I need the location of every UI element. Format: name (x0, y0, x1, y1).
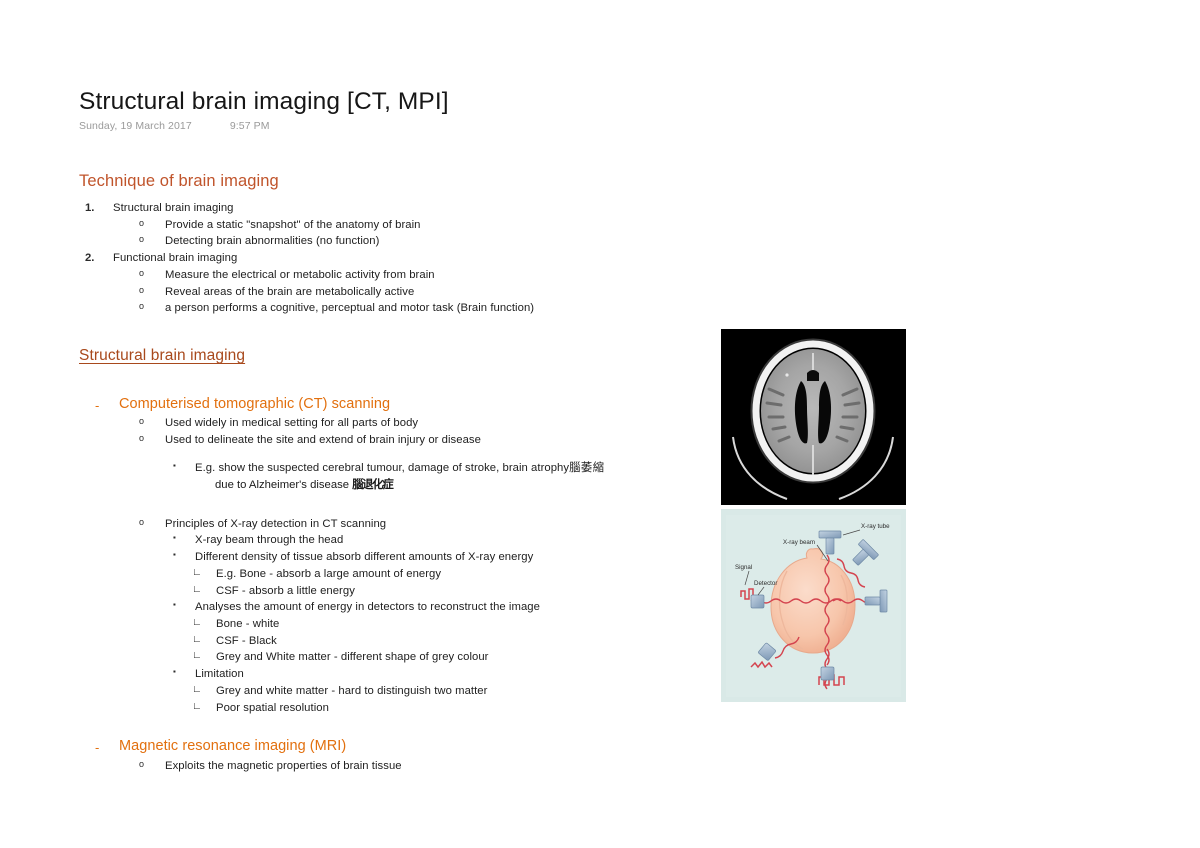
list-marker-corner: ∟ (192, 633, 216, 648)
list-item: o Exploits the magnetic properties of br… (79, 758, 699, 775)
list-marker-corner: ∟ (192, 616, 216, 631)
list-item: o Detecting brain abnormalities (no func… (79, 233, 699, 250)
list-item-label: Provide a static "snapshot" of the anato… (165, 217, 699, 234)
label-signal: Signal (735, 564, 752, 571)
list-marker-corner: ∟ (192, 683, 216, 698)
list-marker-corner: ∟ (192, 649, 216, 664)
ct-diagram-graphic: X-ray tube X-ray beam Signal Detector (721, 509, 906, 702)
list-item: o Principles of X-ray detection in CT sc… (79, 516, 699, 533)
list-marker-square: ▪ (173, 599, 195, 611)
list-item: 2. Functional brain imaging (79, 250, 699, 267)
list-item: o Used widely in medical setting for all… (79, 415, 699, 432)
example-cjk-line1: 腦萎縮 (569, 462, 604, 474)
list-marker-square: ▪ (173, 460, 195, 472)
document-page: Structural brain imaging [CT, MPI] Sunda… (0, 0, 1200, 848)
list-item-label: Measure the electrical or metabolic acti… (165, 267, 699, 284)
list-item-label: Poor spatial resolution (216, 700, 699, 717)
list-item: ∟ E.g. Bone - absorb a large amount of e… (79, 566, 699, 583)
list-marker-square: ▪ (173, 549, 195, 561)
list-item-label: Functional brain imaging (113, 250, 699, 267)
list-item: ▪ X-ray beam through the head (79, 532, 699, 549)
list-item-label: Analyses the amount of energy in detecto… (195, 599, 699, 616)
list-marker-circle: o (139, 217, 165, 230)
list-marker-number: 1. (85, 200, 113, 217)
heading-technique: Technique of brain imaging (79, 172, 699, 192)
ct-diagram-image: X-ray tube X-ray beam Signal Detector (721, 509, 906, 702)
heading-principles: Principles of X-ray detection in CT scan… (165, 516, 699, 533)
list-marker-corner: ∟ (192, 700, 216, 715)
label-detector: Detector (754, 580, 777, 587)
list-item-label: Used to delineate the site and extend of… (165, 432, 699, 449)
list-marker-circle: o (139, 516, 165, 529)
list-item: ∟ CSF - Black (79, 633, 699, 650)
list-item: o a person performs a cognitive, percept… (79, 300, 699, 317)
list-item-label: Grey and White matter - different shape … (216, 649, 699, 666)
list-marker-square: ▪ (173, 666, 195, 678)
list-item-label: Reveal areas of the brain are metabolica… (165, 284, 699, 301)
list-item: 1. Structural brain imaging (79, 200, 699, 217)
heading-structural-wrap: Structural brain imaging (79, 347, 699, 366)
list-item: ▪ Limitation (79, 666, 699, 683)
list-item-label: a person performs a cognitive, perceptua… (165, 300, 699, 317)
ct-scan-graphic (721, 329, 906, 505)
document-content: Structural brain imaging [CT, MPI] Sunda… (79, 88, 699, 774)
list-item: ∟ Bone - white (79, 616, 699, 633)
list-item: ▪ Analyses the amount of energy in detec… (79, 599, 699, 616)
detector-left (751, 595, 764, 608)
list-item: o Reveal areas of the brain are metaboli… (79, 284, 699, 301)
list-marker-circle: o (139, 284, 165, 297)
list-marker-circle: o (139, 300, 165, 313)
list-item-label: Limitation (195, 666, 699, 683)
document-meta: Sunday, 19 March 20179:57 PM (79, 120, 699, 132)
label-xray-beam: X-ray beam (783, 539, 815, 546)
list-marker-circle: o (139, 233, 165, 246)
page-title: Structural brain imaging [CT, MPI] (79, 88, 699, 116)
list-item-label: CSF - absorb a little energy (216, 583, 699, 600)
document-time: 9:57 PM (230, 120, 270, 132)
list-marker-circle: o (139, 432, 165, 445)
example-text-line1: E.g. show the suspected cerebral tumour,… (195, 462, 569, 474)
list-marker-circle: o (139, 267, 165, 280)
list-item: ▪ Different density of tissue absorb dif… (79, 549, 699, 566)
list-item-label: E.g. Bone - absorb a large amount of ene… (216, 566, 699, 583)
list-item: ∟ Grey and white matter - hard to distin… (79, 683, 699, 700)
list-item: o Used to delineate the site and extend … (79, 432, 699, 449)
example-text-line2: due to Alzheimer's disease (215, 479, 349, 491)
list-item: ▪ E.g. show the suspected cerebral tumou… (79, 460, 699, 477)
ct-scan-image (721, 329, 906, 505)
list-marker-square: ▪ (173, 532, 195, 544)
list-marker-corner: ∟ (192, 566, 216, 581)
list-item-label: Exploits the magnetic properties of brai… (165, 758, 699, 775)
list-item-label: X-ray beam through the head (195, 532, 699, 549)
list-item: ∟ Grey and White matter - different shap… (79, 649, 699, 666)
heading-structural: Structural brain imaging (79, 347, 245, 366)
list-item-label: Detecting brain abnormalities (no functi… (165, 233, 699, 250)
heading-ct-scanning: Computerised tomographic (CT) scanning (119, 396, 390, 413)
list-marker-dash: - (95, 396, 119, 415)
heading-mri: Magnetic resonance imaging (MRI) (119, 738, 346, 755)
list-marker-dash: - (95, 738, 119, 757)
example-cjk-line2: 腦退化症 (352, 479, 392, 491)
detector-bottom (821, 667, 834, 680)
list-marker-circle: o (139, 758, 165, 771)
heading-mri-row: - Magnetic resonance imaging (MRI) (79, 738, 699, 757)
label-xray-tube: X-ray tube (861, 523, 890, 530)
list-item-label: Different density of tissue absorb diffe… (195, 549, 699, 566)
list-item-label: CSF - Black (216, 633, 699, 650)
list-marker-circle: o (139, 415, 165, 428)
heading-ct-scanning-row: - Computerised tomographic (CT) scanning (79, 396, 699, 415)
list-item: o Measure the electrical or metabolic ac… (79, 267, 699, 284)
list-item-label: Bone - white (216, 616, 699, 633)
list-item-label: Used widely in medical setting for all p… (165, 415, 699, 432)
list-item: o Provide a static "snapshot" of the ana… (79, 217, 699, 234)
list-item: ∟ CSF - absorb a little energy (79, 583, 699, 600)
list-item-label: Grey and white matter - hard to distingu… (216, 683, 699, 700)
list-item-label: Structural brain imaging (113, 200, 699, 217)
list-marker-number: 2. (85, 250, 113, 267)
document-date: Sunday, 19 March 2017 (79, 120, 192, 132)
list-marker-corner: ∟ (192, 583, 216, 598)
list-item-label: E.g. show the suspected cerebral tumour,… (195, 460, 699, 477)
example-line2: due to Alzheimer's disease 腦退化症 (79, 477, 699, 494)
list-item: ∟ Poor spatial resolution (79, 700, 699, 717)
